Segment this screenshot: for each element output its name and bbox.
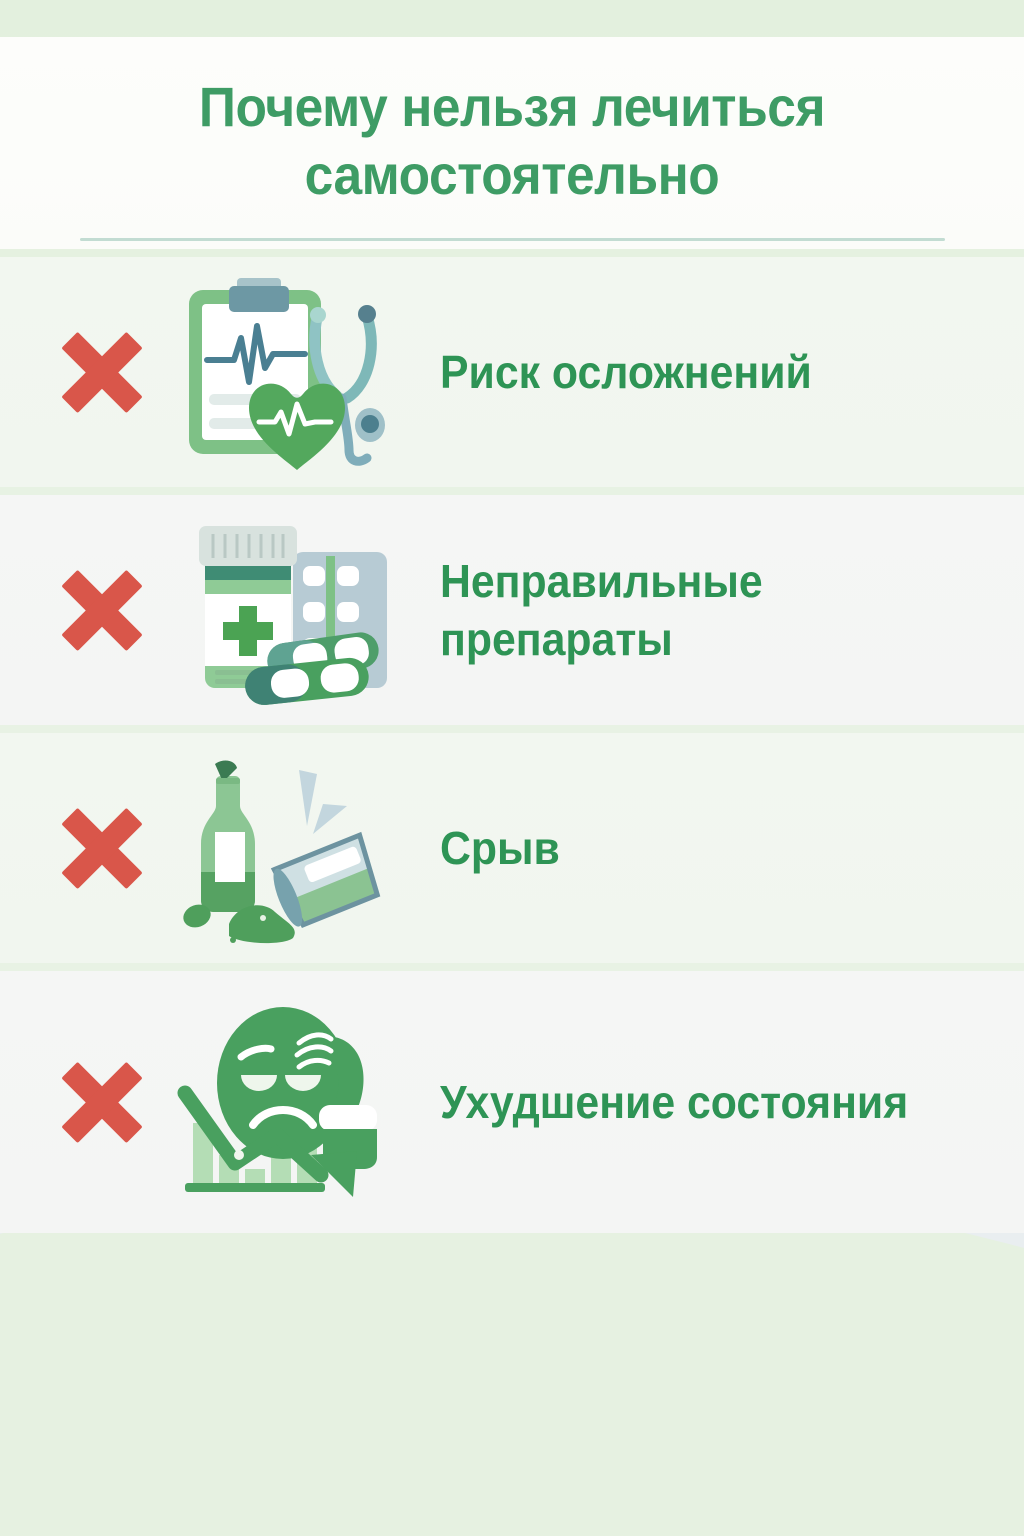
pill-bottle-blister-capsules-icon — [162, 505, 412, 715]
clipboard-ecg-heart-stethoscope-icon — [162, 267, 412, 477]
red-cross-icon — [50, 320, 154, 424]
list-item-label: Срыв — [440, 819, 983, 877]
list-item-label-line-1: Риск осложнений — [440, 343, 946, 401]
page-title-line-2: самостоятельно — [41, 141, 983, 209]
list-item-label: Ухудшение состояния — [440, 1073, 983, 1131]
infographic-poster: Почему нельзя лечиться самостоятельно — [0, 0, 1024, 1536]
list-item-label: Неправильные препараты — [440, 552, 983, 668]
red-cross-icon — [50, 796, 154, 900]
title-divider — [80, 238, 945, 241]
list-item-worsening-condition[interactable]: Ухудшение состояния — [0, 971, 1024, 1233]
red-cross-icon — [50, 558, 154, 662]
list-item-wrong-medications[interactable]: Неправильные препараты — [0, 495, 1024, 725]
list-item-label-line-1: Неправильные — [440, 552, 946, 610]
list-item-label-line-2: препараты — [440, 610, 946, 668]
list-item-label: Риск осложнений — [440, 343, 983, 401]
bottle-spilled-glass-icon — [162, 743, 412, 953]
list-item-relapse[interactable]: Срыв — [0, 733, 1024, 963]
header-card: Почему нельзя лечиться самостоятельно — [0, 37, 1024, 249]
page-title: Почему нельзя лечиться самостоятельно — [0, 73, 1024, 209]
list-item-label-line-1: Ухудшение состояния — [440, 1073, 946, 1131]
list-item-label-line-1: Срыв — [440, 819, 946, 877]
red-cross-icon — [50, 1050, 154, 1154]
sad-face-declining-chart-icon — [162, 997, 412, 1207]
page-title-line-1: Почему нельзя лечиться — [41, 73, 983, 141]
list-item-risk-of-complications[interactable]: Риск осложнений — [0, 257, 1024, 487]
